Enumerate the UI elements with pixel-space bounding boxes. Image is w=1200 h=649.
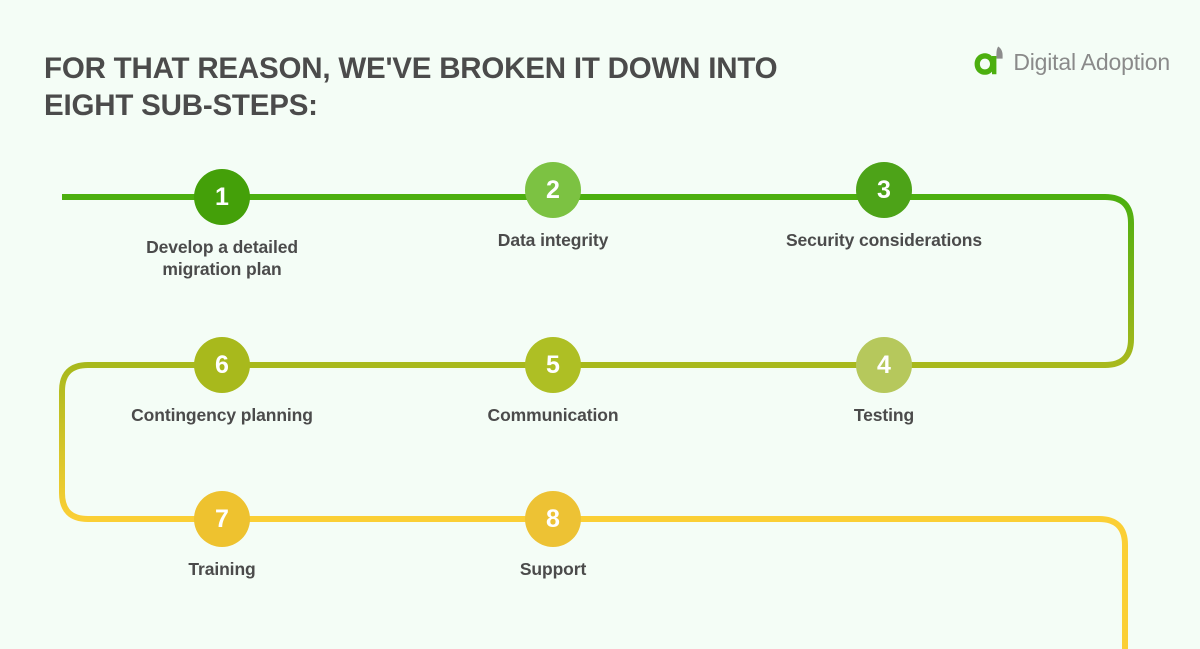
step-label-3: Security considerations [734, 229, 1034, 251]
page-title: For that reason, we've broken it down in… [44, 50, 804, 124]
step-number-badge-8: 8 [525, 491, 581, 547]
flow-connector-right-lower [1099, 519, 1125, 649]
step-node-8[interactable]: 8 Support [433, 491, 673, 580]
infographic-canvas: For that reason, we've broken it down in… [0, 0, 1200, 649]
step-number-badge-6: 6 [194, 337, 250, 393]
step-node-3[interactable]: 3 Security considerations [734, 162, 1034, 251]
step-node-1[interactable]: 1 Develop a detailed migration plan [102, 169, 342, 280]
step-label-4: Testing [764, 404, 1004, 426]
step-label-1: Develop a detailed migration plan [102, 236, 342, 280]
step-label-7: Training [102, 558, 342, 580]
step-number-badge-4: 4 [856, 337, 912, 393]
step-label-5: Communication [433, 404, 673, 426]
step-label-8: Support [433, 558, 673, 580]
digital-adoption-logo-mark-icon [973, 44, 1009, 80]
step-number-badge-1: 1 [194, 169, 250, 225]
step-number-badge-2: 2 [525, 162, 581, 218]
flow-connector-right-upper [1105, 197, 1131, 365]
step-number-badge-5: 5 [525, 337, 581, 393]
step-node-5[interactable]: 5 Communication [433, 337, 673, 426]
step-node-2[interactable]: 2 Data integrity [433, 162, 673, 251]
step-node-7[interactable]: 7 Training [102, 491, 342, 580]
step-node-6[interactable]: 6 Contingency planning [72, 337, 372, 426]
brand-logo-text: Digital Adoption [1013, 51, 1170, 74]
step-number-badge-3: 3 [856, 162, 912, 218]
step-label-6: Contingency planning [72, 404, 372, 426]
step-node-4[interactable]: 4 Testing [764, 337, 1004, 426]
brand-logo: Digital Adoption [973, 44, 1170, 80]
step-number-badge-7: 7 [194, 491, 250, 547]
step-label-2: Data integrity [433, 229, 673, 251]
